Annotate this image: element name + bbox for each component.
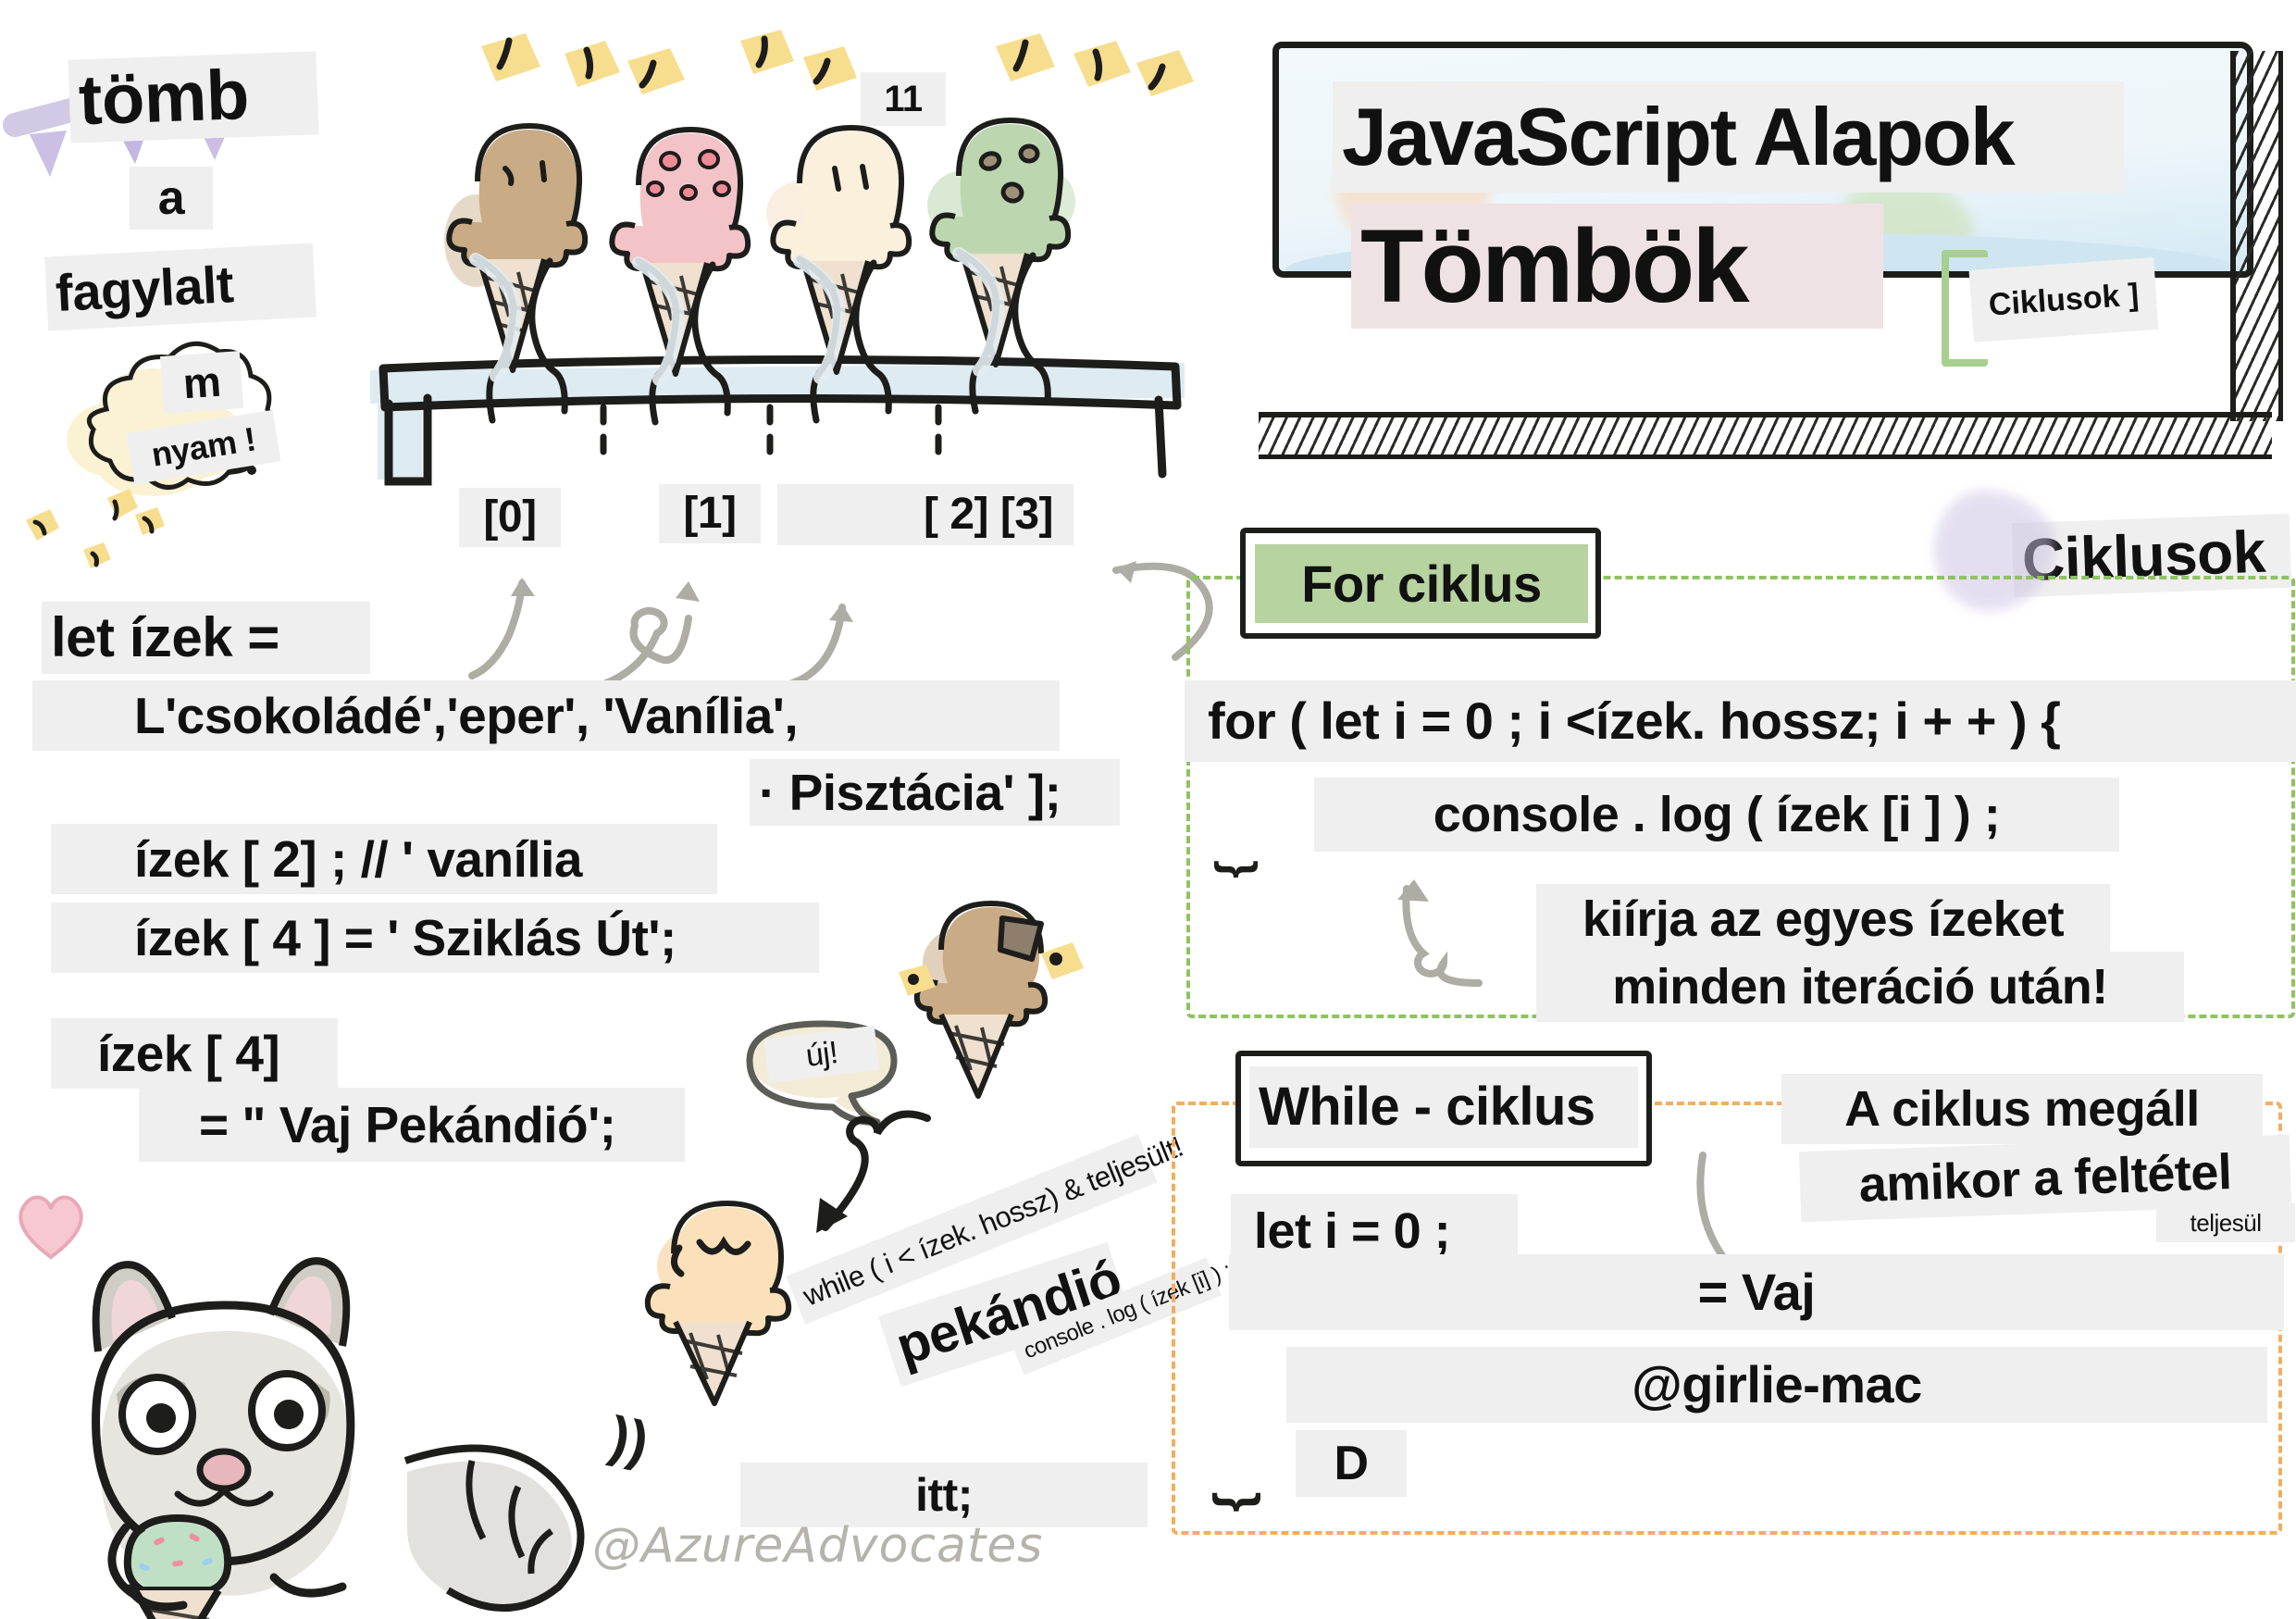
raccoon-illustration xyxy=(37,1222,611,1611)
sketchnote-canvas: tömb a fagylalt m nyam ! xyxy=(0,0,2296,1619)
while-loop-code-line2: = Vaj xyxy=(1229,1254,2284,1330)
signature-azure-advocates: @AzureAdvocates xyxy=(592,1518,1043,1574)
while-loop-code-line4: D xyxy=(1296,1430,1407,1497)
leader-arrows xyxy=(444,537,1222,704)
while-loop-note-line1: A ciklus megáll xyxy=(1781,1074,2263,1144)
for-loop-code-line1: for ( let i = 0 ; i <ízek. hossz; i + + … xyxy=(1185,680,2296,762)
thought-m: m xyxy=(160,351,243,414)
code-line-index4-assign: ízek [ 4 ] = ' Sziklás Út'; xyxy=(51,903,819,973)
sprinkle-decor-left xyxy=(19,481,222,583)
for-loop-note-line2: minden iteráció után! xyxy=(1536,952,2184,1022)
while-loop-note-line3: teljesül xyxy=(2156,1203,2295,1242)
while-loop-label: While - ciklus xyxy=(1249,1066,1638,1148)
for-loop-closing-brace: } xyxy=(1213,860,1267,878)
for-loop-code-line2: console . log ( ízek [i ] ) ; xyxy=(1314,778,2119,852)
poster-title-line2: Tömbök xyxy=(1351,204,1883,329)
heading-tomb: tömb xyxy=(68,51,319,143)
confetti-decor-top xyxy=(472,28,1212,130)
for-loop-label: For ciklus xyxy=(1255,544,1588,623)
poster-title-line1: JavaScript Alapok xyxy=(1333,81,2124,193)
for-loop-note-line1: kiírja az egyes ízeket xyxy=(1536,884,2110,954)
chocolate-cone-small xyxy=(902,898,1106,1111)
index-label-1: [1] xyxy=(659,484,761,543)
code-line-let-izek: let ízek = xyxy=(42,602,370,674)
code-line-array-literal: L'csokoládé','eper', 'Vanília', xyxy=(32,680,1060,751)
badge-ciklusok: Ciklusok ] xyxy=(1969,257,2159,342)
code-line-pisztacia: · Pisztácia' ]; xyxy=(750,759,1120,826)
for-loop-note-arrow xyxy=(1388,879,1518,990)
closing-paren-doodle: )) xyxy=(604,1404,653,1475)
icecream-shelf-illustration xyxy=(370,120,1203,509)
while-loop-closing-brace: } xyxy=(1210,1492,1271,1513)
while-loop-author-handle: @girlie-mac xyxy=(1286,1347,2267,1423)
code-line-vaj-pekandio: = " Vaj Pekándió'; xyxy=(139,1088,685,1162)
page-number: 11 xyxy=(861,72,946,126)
board-bottom-ledge-hatch xyxy=(1259,412,2272,459)
board-right-edge-hatch xyxy=(2230,51,2283,421)
code-line-index4: ízek [ 4] xyxy=(51,1018,338,1089)
code-line-index2: ízek [ 2] ; // ' vanília xyxy=(51,824,717,894)
heading-a: a xyxy=(130,167,213,230)
heading-fagylalt: fagylalt xyxy=(44,243,316,330)
